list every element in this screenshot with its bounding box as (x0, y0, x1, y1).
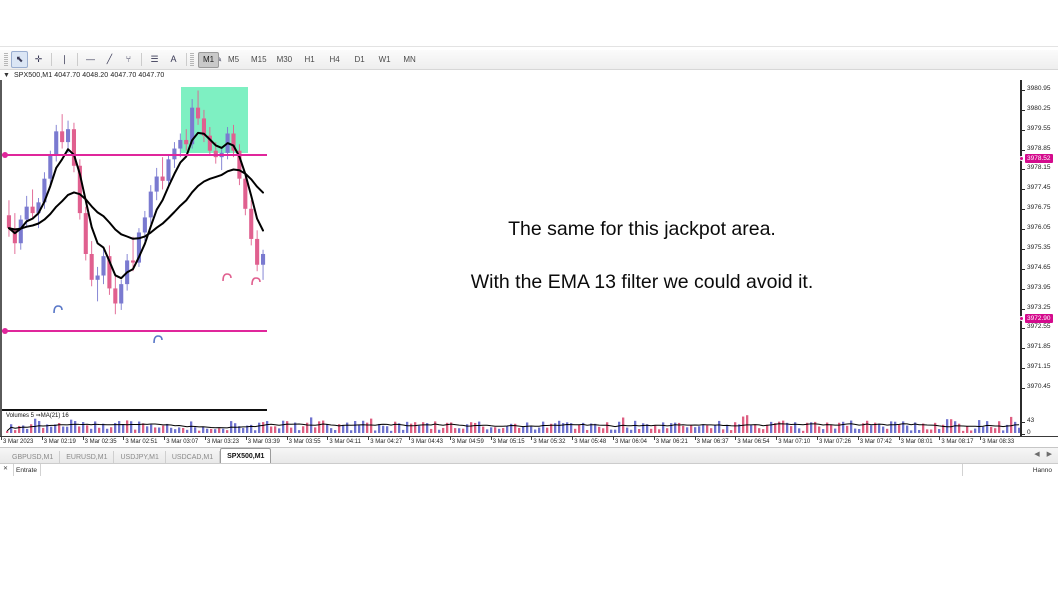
volume-bar (82, 422, 84, 433)
volume-bar (678, 423, 680, 433)
equidistant-channel-tool[interactable]: ☰ (146, 51, 163, 68)
volume-bar (722, 429, 724, 433)
volume-bar (798, 428, 800, 433)
volume-bar (850, 421, 852, 433)
time-tick-label-10: 3 Mar 04:43 (411, 439, 443, 445)
volume-bar (638, 429, 640, 433)
toolbar-grip[interactable] (4, 53, 8, 67)
volume-bar (1014, 422, 1016, 433)
volume-bar (406, 422, 408, 433)
volume-bar (258, 423, 260, 433)
volume-bar (302, 426, 304, 433)
volume-bar (326, 425, 328, 433)
time-tick-label-16: 3 Mar 06:21 (656, 439, 688, 445)
candle-body (25, 207, 29, 220)
volume-bar (506, 426, 508, 433)
candle-body (166, 159, 170, 181)
volume-bar (226, 430, 228, 433)
volume-bar (618, 422, 620, 433)
price-scale[interactable]: 3980.953980.253979.553978.853978.153977.… (1020, 80, 1058, 436)
volume-bar (290, 428, 292, 433)
volume-bar (110, 427, 112, 433)
volume-bar (674, 423, 676, 433)
volume-bar (462, 429, 464, 433)
time-tick (450, 437, 451, 440)
price-tick (1022, 368, 1025, 369)
volume-bar (394, 422, 396, 433)
volume-bar (422, 422, 424, 433)
volume-bar (346, 423, 348, 433)
current-price-badge-1: 3972.90 (1025, 314, 1053, 323)
resistance-anchor-handle[interactable] (2, 152, 8, 158)
volume-bar (478, 422, 480, 433)
price-tick-label-14: 3971.15 (1027, 364, 1051, 371)
volume-bar (758, 428, 760, 433)
volume-bar (970, 430, 972, 433)
volume-bar (890, 421, 892, 433)
volume-bar (546, 428, 548, 433)
volume-bar (894, 422, 896, 433)
volume-bar (954, 421, 956, 433)
volume-bar (670, 423, 672, 433)
volume-bar (710, 428, 712, 433)
volume-bar (458, 428, 460, 433)
volume-bar (966, 426, 968, 433)
time-tick-label-11: 3 Mar 04:59 (452, 439, 484, 445)
volume-bar (206, 429, 208, 433)
toolbar-separator (141, 53, 142, 66)
volume-bar (378, 424, 380, 433)
volume-bar (86, 425, 88, 433)
price-tick (1022, 328, 1025, 329)
volume-bar (658, 429, 660, 433)
volume-bar (846, 426, 848, 433)
time-tick (246, 437, 247, 440)
volume-bar (538, 428, 540, 433)
volume-bar (714, 425, 716, 433)
volume-bar (430, 429, 432, 433)
timeframe-grip[interactable] (190, 53, 194, 67)
time-tick (613, 437, 614, 440)
volume-bar (198, 431, 200, 433)
price-tick (1022, 289, 1025, 290)
volume-bar (178, 427, 180, 433)
volume-bar (474, 423, 476, 433)
volume-bar (90, 429, 92, 433)
volume-bar (38, 421, 40, 433)
volume-bar (322, 421, 324, 433)
volume-bar (442, 428, 444, 433)
volume-bar (214, 429, 216, 433)
volume-bar (522, 427, 524, 433)
volume-bar (494, 427, 496, 433)
volume-bar (370, 419, 372, 433)
volume-bar (270, 427, 272, 433)
time-tick (572, 437, 573, 440)
volume-bar (334, 430, 336, 433)
time-tick-label-19: 3 Mar 07:10 (778, 439, 810, 445)
price-marker-dot-1 (1019, 316, 1024, 321)
time-tick (123, 437, 124, 440)
price-tick-label-13: 3971.85 (1027, 344, 1051, 351)
volume-bar (362, 421, 364, 433)
candle-body (113, 288, 117, 303)
volume-bar (482, 427, 484, 433)
volume-bar (854, 429, 856, 433)
candle-body (84, 213, 88, 254)
volume-bar (934, 423, 936, 433)
volume-bar (686, 427, 688, 433)
candle-body (149, 192, 153, 218)
volume-bar (730, 430, 732, 433)
volume-bar (222, 429, 224, 433)
volume-bar (150, 425, 152, 433)
time-tick-label-12: 3 Mar 05:15 (493, 439, 525, 445)
volume-bar (974, 429, 976, 433)
volume-bar (534, 430, 536, 433)
volume-bar (330, 428, 332, 433)
price-tick-label-0: 3980.95 (1027, 86, 1051, 93)
volume-bar (50, 427, 52, 433)
fibonacci-tool[interactable]: ⑂ (120, 51, 137, 68)
tab-scroll-controls: ◀ ▶ (1034, 451, 1052, 458)
terminal-column-entrate: Entrate (16, 468, 37, 475)
time-tick (83, 437, 84, 440)
time-tick (287, 437, 288, 440)
volume-bar (598, 427, 600, 433)
time-tick (776, 437, 777, 440)
volume-bar (898, 425, 900, 433)
price-tick-label-11: 3973.25 (1027, 305, 1051, 312)
timeframe-d1[interactable]: D1 (349, 52, 370, 68)
volume-bar (42, 428, 44, 433)
toolbar-separator (51, 53, 52, 66)
time-tick-label-9: 3 Mar 04:27 (370, 439, 402, 445)
time-tick (205, 437, 206, 440)
volume-bar (138, 422, 140, 433)
volume-bar (654, 425, 656, 433)
time-tick (368, 437, 369, 440)
time-tick-label-14: 3 Mar 05:48 (574, 439, 606, 445)
volume-bar (74, 421, 76, 433)
price-tick-label-10: 3973.95 (1027, 285, 1051, 292)
chart-plot-area[interactable]: Volumes 5 ⇒MA(21) 16 The same for this j… (0, 80, 1020, 436)
price-tick (1022, 229, 1025, 230)
volume-bar (558, 421, 560, 433)
volume-bar (958, 424, 960, 433)
time-tick (164, 437, 165, 440)
volume-bar (762, 429, 764, 433)
candle-body (178, 140, 182, 149)
volume-bar (882, 427, 884, 433)
volume-bar (586, 430, 588, 433)
volume-bar (834, 429, 836, 433)
volume-bar (602, 428, 604, 433)
volume-bar (526, 422, 528, 433)
volume-bar (118, 421, 120, 433)
timeframe-m1[interactable]: M1 (198, 52, 219, 68)
volume-bar (542, 422, 544, 433)
candle-body (243, 179, 247, 209)
candle-body (101, 256, 105, 275)
candle-body (255, 239, 259, 265)
volume-bar (962, 431, 964, 433)
time-tick-label-13: 3 Mar 05:32 (533, 439, 565, 445)
chart-tab-strip: GBPUSD,M1EURUSD,M1USDJPY,M1USDCAD,M1SPX5… (0, 447, 1058, 464)
timeframe-m30[interactable]: M30 (274, 52, 296, 68)
volume-bar (410, 424, 412, 433)
ema-slow-line (9, 170, 263, 239)
chart-plot-inner: Volumes 5 ⇒MA(21) 16 The same for this j… (2, 80, 1020, 436)
volume-bar (78, 426, 80, 433)
time-tick (42, 437, 43, 440)
time-tick (1, 437, 2, 440)
volume-bar (242, 428, 244, 433)
price-tick-label-2: 3979.55 (1027, 126, 1051, 133)
volume-bar (830, 425, 832, 433)
cursor-tool[interactable]: ⬉ (11, 51, 28, 68)
trendline-tool[interactable]: ╱ (101, 51, 118, 68)
signal-arrow-down-2 (252, 278, 260, 285)
volume-bar (470, 422, 472, 433)
volume-bar (254, 430, 256, 433)
volume-bar (626, 428, 628, 433)
volume-bar (30, 424, 32, 433)
volume-bar (910, 430, 912, 433)
volume-bar (822, 429, 824, 433)
volume-tick-label-0: 43 (1027, 418, 1034, 425)
metatrader-window: ⬉✛❘—╱⑂☰A⫾✎ M1M5M15M30H1H4D1W1MN ▼ SPX500… (0, 0, 1058, 595)
volume-bar (490, 427, 492, 433)
volume-bar (986, 421, 988, 433)
volume-bar (14, 430, 16, 433)
candle-body (60, 131, 64, 142)
volume-bar (706, 425, 708, 433)
price-tick (1022, 388, 1025, 389)
price-tick-label-4: 3978.15 (1027, 165, 1051, 172)
tab-scroll-left-icon[interactable]: ◀ (1034, 451, 1039, 458)
volume-bar (134, 430, 136, 433)
volume-bar (170, 428, 172, 433)
volume-bar (190, 421, 192, 433)
volume-bar (702, 424, 704, 433)
toolbar-separator (186, 53, 187, 66)
volume-bar (690, 425, 692, 433)
volume-bar (66, 427, 68, 433)
volume-bar (634, 421, 636, 433)
candle-body (66, 129, 70, 142)
volume-bar (314, 427, 316, 433)
volume-bar (94, 421, 96, 433)
window-top-area (0, 0, 1058, 50)
timeframe-m5[interactable]: M5 (223, 52, 244, 68)
volume-bar (126, 420, 128, 433)
candle-body (143, 217, 147, 232)
time-tick-label-23: 3 Mar 08:17 (941, 439, 973, 445)
toolbar-separator (77, 53, 78, 66)
volume-bar (998, 421, 1000, 433)
symbol-header: ▼ SPX500,M1 4047.70 4048.20 4047.70 4047… (0, 70, 1058, 80)
volume-bar (1002, 430, 1004, 433)
time-tick (654, 437, 655, 440)
candle-body (19, 220, 23, 244)
timeframe-w1[interactable]: W1 (374, 52, 395, 68)
volume-bar (698, 426, 700, 433)
tab-scroll-right-icon[interactable]: ▶ (1047, 451, 1052, 458)
candle-body (196, 108, 200, 119)
volume-bar (70, 420, 72, 433)
signal-arrow-up-1 (154, 336, 162, 343)
price-tick-label-6: 3976.75 (1027, 205, 1051, 212)
timeframe-h4[interactable]: H4 (324, 52, 345, 68)
volume-bar (162, 426, 164, 433)
volume-bar (358, 425, 360, 433)
window-top-divider (0, 46, 1058, 47)
candle-body (90, 254, 94, 280)
timeframe-m15[interactable]: M15 (248, 52, 270, 68)
price-tick (1022, 209, 1025, 210)
page-background (0, 476, 1058, 595)
price-tick-label-1: 3980.25 (1027, 106, 1051, 113)
volume-bar (282, 421, 284, 433)
resistance-line[interactable] (2, 154, 267, 156)
candle-body (184, 140, 188, 144)
terminal-close-icon[interactable]: ✕ (3, 466, 8, 472)
terminal-column-hanno: Hanno (1033, 468, 1052, 475)
candle-body (96, 276, 100, 280)
volume-bar (770, 422, 772, 433)
price-tick-label-12: 3972.55 (1027, 324, 1051, 331)
volume-bar (610, 430, 612, 433)
time-tick (695, 437, 696, 440)
volume-bar (366, 423, 368, 433)
volume-bar (866, 421, 868, 433)
volume-bar (726, 425, 728, 433)
volume-bar (414, 422, 416, 433)
volume-bar (918, 430, 920, 433)
volume-bar (818, 427, 820, 433)
candle-body (54, 131, 58, 155)
price-tick (1022, 169, 1025, 170)
price-marker-dot-0 (1019, 156, 1024, 161)
chart-menu-caret-icon[interactable]: ▼ (3, 72, 10, 79)
time-tick-label-0: 3 Mar 2023 (3, 439, 33, 445)
volume-bar (574, 429, 576, 433)
signal-arrow-down-3 (223, 274, 231, 281)
volume-bar (390, 431, 392, 433)
price-tick (1022, 90, 1025, 91)
volume-bar (790, 426, 792, 433)
time-tick (491, 437, 492, 440)
volume-bar (642, 423, 644, 433)
timeframe-mn[interactable]: MN (399, 52, 420, 68)
horizontal-line-tool[interactable]: — (82, 51, 99, 68)
volume-bar (946, 419, 948, 433)
volume-bar (274, 426, 276, 433)
volume-bar (990, 427, 992, 433)
timeframe-group: M1M5M15M30H1H4D1W1MN (188, 50, 422, 69)
candle-body (48, 155, 52, 179)
time-tick-label-6: 3 Mar 03:39 (248, 439, 280, 445)
volume-bar (842, 422, 844, 433)
volume-bar (26, 429, 28, 433)
candle-body (161, 177, 165, 181)
chart-tab-spx500[interactable]: SPX500,M1 (220, 448, 271, 464)
time-tick (939, 437, 940, 440)
volume-bar (906, 426, 908, 433)
volume-bar (498, 429, 500, 433)
volume-bar (418, 426, 420, 433)
volume-bar (858, 429, 860, 433)
price-tick (1022, 189, 1025, 190)
volume-bar (530, 427, 532, 433)
volume-bar (838, 423, 840, 433)
candle-body (119, 284, 123, 303)
volume-bar (734, 422, 736, 433)
time-tick-label-5: 3 Mar 03:23 (207, 439, 239, 445)
price-tick (1022, 110, 1025, 111)
price-tick (1022, 348, 1025, 349)
volume-bar (486, 429, 488, 433)
time-tick (817, 437, 818, 440)
volume-bar (342, 425, 344, 433)
price-tick-label-5: 3977.45 (1027, 185, 1051, 192)
crosshair-tool[interactable]: ✛ (30, 51, 47, 68)
current-price-badge-0: 3978.52 (1025, 154, 1053, 163)
support-line[interactable] (2, 330, 267, 332)
text-tool[interactable]: A (165, 51, 182, 68)
volume-bar (666, 428, 668, 433)
chart-tabs: GBPUSD,M1EURUSD,M1USDJPY,M1USDCAD,M1SPX5… (6, 449, 271, 464)
price-tick (1022, 150, 1025, 151)
vertical-line-tool[interactable]: ❘ (56, 51, 73, 68)
price-tick-label-3: 3978.85 (1027, 146, 1051, 153)
timeframe-h1[interactable]: H1 (299, 52, 320, 68)
volume-bar (382, 426, 384, 433)
time-tick-label-15: 3 Mar 06:04 (615, 439, 647, 445)
volume-bar (158, 428, 160, 433)
price-tick (1022, 130, 1025, 131)
volume-bar (262, 422, 264, 433)
volume-bar (278, 428, 280, 433)
time-tick-label-20: 3 Mar 07:26 (819, 439, 851, 445)
price-tick-label-7: 3976.05 (1027, 225, 1051, 232)
volume-bar (902, 421, 904, 433)
volume-bar (454, 428, 456, 433)
volume-bar (578, 424, 580, 433)
price-tick-label-15: 3970.45 (1027, 384, 1051, 391)
candle-body (261, 254, 265, 265)
symbol-ohlc-text: SPX500,M1 4047.70 4048.20 4047.70 4047.7… (14, 72, 164, 79)
volume-bar (718, 421, 720, 433)
volume-bar (994, 428, 996, 433)
time-tick-label-2: 3 Mar 02:35 (85, 439, 117, 445)
annotation-line-1: The same for this jackpot area. (332, 218, 952, 240)
volume-bar (754, 425, 756, 433)
volume-bar (386, 426, 388, 433)
volume-bar (926, 429, 928, 433)
support-anchor-handle[interactable] (2, 328, 8, 334)
time-tick (858, 437, 859, 440)
volume-bar (682, 426, 684, 433)
volume-bar (402, 430, 404, 433)
volume-bar (614, 430, 616, 433)
signal-arrow-up-0 (54, 306, 62, 313)
time-tick-label-21: 3 Mar 07:42 (860, 439, 892, 445)
volume-bar (318, 421, 320, 433)
volume-bar (98, 428, 100, 433)
volume-bar (766, 425, 768, 433)
